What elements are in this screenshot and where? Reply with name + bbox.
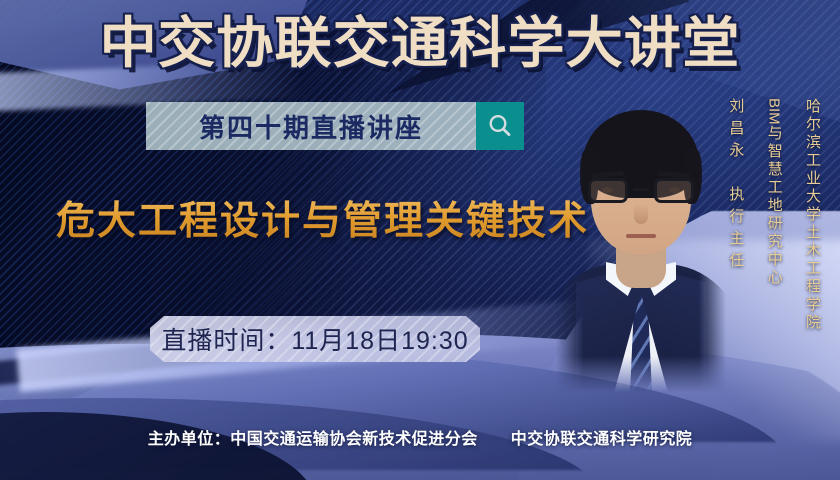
portrait-glasses-left xyxy=(588,178,628,203)
portrait-glasses-bridge xyxy=(633,188,649,191)
search-button[interactable] xyxy=(476,102,524,150)
speaker-name: 刘昌永 xyxy=(727,98,744,164)
speaker-affiliation-school: 哈尔滨工业大学土木工程学院 xyxy=(800,98,824,332)
speaker-role: 执行主任 xyxy=(727,186,744,274)
speaker-affiliation-center: BIM与智慧工地研究中心 xyxy=(761,98,785,287)
portrait-glasses-right xyxy=(654,178,694,203)
live-lecture-poster: 中交协联交通科学大讲堂 第四十期直播讲座 危大工程设计与管理关键技术 直播时间：… xyxy=(0,0,840,480)
speaker-name-title: 刘昌永 执行主任 xyxy=(723,98,747,274)
subtitle-label: 第四十期直播讲座 xyxy=(199,108,423,145)
subtitle-bar: 第四十期直播讲座 xyxy=(146,102,476,150)
portrait-nose xyxy=(634,204,648,224)
portrait-mouth xyxy=(626,234,656,238)
live-time-label: 直播时间：11月18日19:30 xyxy=(161,321,468,357)
organizers-footer: 主办单位：中国交通运输协会新技术促进分会 中交协联交通科学研究院 xyxy=(0,425,840,449)
search-icon xyxy=(486,112,514,140)
live-time-banner: 直播时间：11月18日19:30 xyxy=(150,316,480,362)
speaker-credits: 哈尔滨工业大学土木工程学院 BIM与智慧工地研究中心 刘昌永 执行主任 xyxy=(723,98,824,332)
page-title: 中交协联交通科学大讲堂 xyxy=(0,14,840,72)
affiliation-acronym: BIM xyxy=(766,98,783,125)
lecture-topic-headline: 危大工程设计与管理关键技术 xyxy=(56,190,589,246)
